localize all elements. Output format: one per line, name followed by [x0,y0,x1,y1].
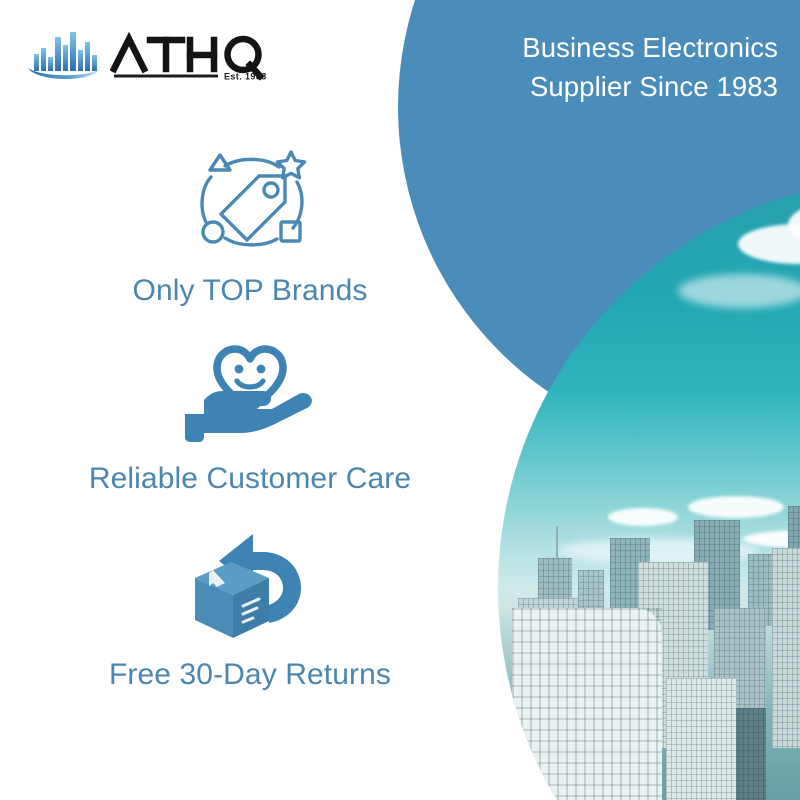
feature-item-brands: Only TOP Brands [133,140,368,308]
feature-label-customer-care: Reliable Customer Care [89,462,411,496]
box-return-arrow-icon [179,526,321,644]
header-tagline: Business Electronics Supplier Since 1983 [318,28,778,106]
feature-label-returns: Free 30-Day Returns [109,658,391,692]
feature-item-returns: Free 30-Day Returns [109,526,391,692]
established-text: Est. 1983 [224,72,267,82]
city-skyline-photo [498,178,800,800]
cloud-icon [608,508,678,526]
feature-list: Only TOP Brands Reliable Customer Care [0,140,500,692]
feature-label-brands: Only TOP Brands [133,274,368,308]
price-tag-shapes-icon [181,140,323,260]
cloud-icon [688,496,784,518]
header-tagline-line1: Business Electronics [318,28,778,67]
brand-wordmark: Est. 1983 [110,29,274,83]
header-tagline-line2: Supplier Since 1983 [318,67,778,106]
antenna [556,526,558,560]
promo-banner: Business Electronics Supplier Since 1983 [0,0,800,800]
cloud-icon [678,274,800,308]
skyline-bars-logo-icon [26,28,102,84]
feature-item-customer-care: Reliable Customer Care [89,336,411,496]
hand-holding-smiling-heart-icon [179,336,321,448]
brand-logo[interactable]: Est. 1983 [26,28,274,84]
